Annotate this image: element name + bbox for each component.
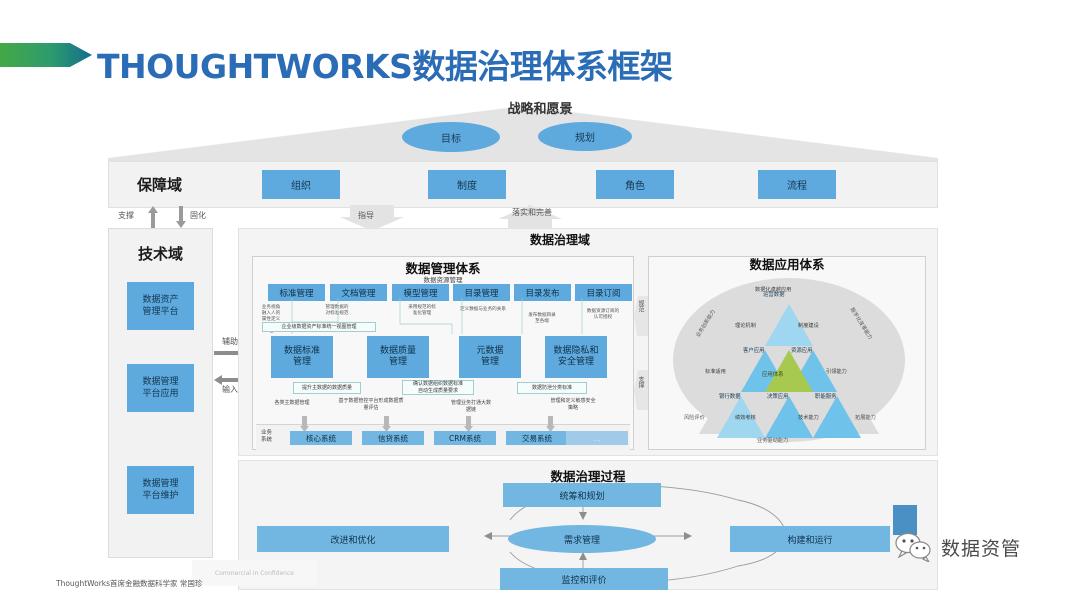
footnote-quality-eval: 基于数据管控平台形成数据质 量评估 <box>330 398 412 411</box>
label-assist: 辅助 <box>222 336 238 347</box>
process-node-requirement[interactable]: 需求管理 <box>508 525 656 553</box>
system-credit[interactable]: 信贷系统 <box>362 431 424 445</box>
tri-label-bank: 银行数据 <box>719 392 741 400</box>
system-trade[interactable]: 交易系统 <box>506 431 568 445</box>
confidence-watermark: Commercial in Confidence <box>192 560 317 586</box>
governance-domain-title: 数据治理域 <box>530 231 590 248</box>
hnote-asset-view: 企业级数据资产标准统一视图管理 <box>262 322 376 332</box>
gap-label-institution: 制度建设 <box>798 322 819 329</box>
data-resource-subtitle: 数据资源管理 <box>252 274 634 284</box>
hnote-quality-auto: 确认数据组织数据标准 自动生成质量要求 <box>402 380 474 395</box>
pillar-data-quality[interactable]: 数据质量 管理 <box>367 336 429 378</box>
system-core[interactable]: 核心系统 <box>290 431 352 445</box>
tri-label-service: 职能服务 <box>815 392 837 400</box>
gap-label-theory: 理论机制 <box>735 322 756 329</box>
process-node-improve[interactable]: 改进和优化 <box>257 526 449 552</box>
system-crm[interactable]: CRM系统 <box>434 431 496 445</box>
hnote-master-quality: 提升主数据的数据质量 <box>293 382 361 394</box>
label-solidify: 固化 <box>190 210 206 221</box>
footnote-sensitive-policy: 管理和定义敏感安全 策略 <box>540 398 606 411</box>
wechat-label: 数据资管 <box>941 534 1021 561</box>
solidify-arrow-down-icon <box>176 206 186 228</box>
roof-oval-goal[interactable]: 目标 <box>402 122 500 152</box>
tri-label-decision: 决策应用 <box>767 392 789 400</box>
process-node-build-run[interactable]: 构建和运行 <box>730 526 890 552</box>
process-node-monitor[interactable]: 监控和评价 <box>500 568 668 590</box>
roof-oval-plan[interactable]: 规划 <box>538 122 632 151</box>
pillar-metadata[interactable]: 元数据 管理 <box>459 336 521 378</box>
label-norm: 规范 <box>636 300 645 312</box>
tech-box-platform-maintain[interactable]: 数据管理 平台维护 <box>127 466 194 514</box>
tri-label-customer: 客户应用 <box>743 346 765 354</box>
support-arrow-up-icon <box>148 206 158 228</box>
outer-label-bottom: 业务驱动能力 <box>757 437 788 444</box>
tri-label-resource: 资源应用 <box>791 346 813 354</box>
tech-box-asset-platform[interactable]: 数据资产 管理平台 <box>127 282 194 330</box>
tri-label-center: 应用体系 <box>762 370 784 378</box>
pillar-privacy-security[interactable]: 数据隐私和 安全管理 <box>545 336 607 378</box>
guarantee-box-role[interactable]: 角色 <box>596 170 674 199</box>
label-support2: 支撑 <box>636 376 645 388</box>
gap-label-performance: 绩效考核 <box>735 414 756 421</box>
wechat-badge: 数据资管 <box>895 532 1021 562</box>
wechat-icon <box>895 532 933 562</box>
page-title: THOUGHTWORKS数据治理体系框架 <box>97 40 672 88</box>
outer-label-risk: 风险评价 <box>684 414 705 421</box>
footnote-master-data: 各类主数据管理 <box>262 400 322 407</box>
hnote-security-class: 数据防泄分类标准 <box>517 382 587 394</box>
strategy-vision-label: 战略和愿景 <box>0 98 1080 117</box>
slide-root: THOUGHTWORKS数据治理体系框架 战略和愿景 目标 规划 保障域 组织 … <box>0 0 1080 608</box>
green-gradient-arrow-icon <box>0 40 100 70</box>
footer-credit: ThoughtWorks首席金融数据科学家 常国珍 <box>56 578 202 589</box>
guarantee-box-org[interactable]: 组织 <box>262 170 340 199</box>
tech-domain-title: 技术域 <box>108 243 213 264</box>
process-node-plan[interactable]: 统筹和规划 <box>503 483 661 507</box>
label-implement: 落实和完善 <box>512 209 552 217</box>
footnote-bigdata-link: 管理业务打通大数 据链 <box>440 400 502 413</box>
label-support: 支撑 <box>118 210 134 221</box>
outer-label-expand: 拓展能力 <box>855 414 876 421</box>
label-guide: 指导 <box>358 210 374 221</box>
guarantee-domain-title: 保障域 <box>137 174 182 195</box>
guarantee-box-policy[interactable]: 制度 <box>428 170 506 199</box>
business-systems-label: 业务 系统 <box>261 430 272 444</box>
gap-label-standard: 标准适用 <box>705 368 726 375</box>
system-connector-arrows <box>256 416 630 432</box>
system-more[interactable]: … <box>566 431 628 445</box>
gap-label-lead: 引领能力 <box>826 368 847 375</box>
outer-label-top: 数据化卓越应用 <box>755 286 791 293</box>
pillar-data-standard[interactable]: 数据标准 管理 <box>271 336 333 378</box>
tech-box-platform-app[interactable]: 数据管理 平台应用 <box>127 364 194 412</box>
guarantee-box-process[interactable]: 流程 <box>758 170 836 199</box>
gap-label-tech: 技术能力 <box>798 414 819 421</box>
label-input: 输入 <box>222 384 238 395</box>
blue-tab-decor <box>893 505 917 535</box>
